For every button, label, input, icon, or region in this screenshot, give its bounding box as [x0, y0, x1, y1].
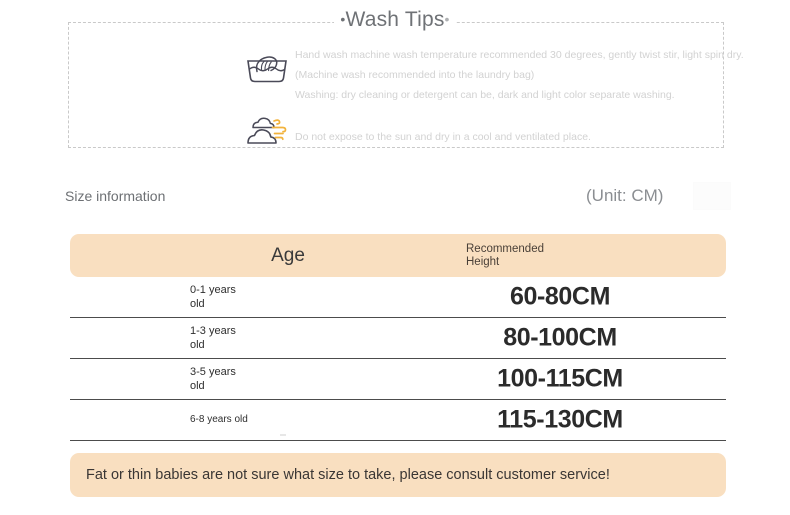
cell-age-line2: old [190, 338, 380, 352]
bullet-right-icon: • [445, 11, 450, 27]
cell-age-line2: old [190, 297, 380, 311]
table-row: 1-3 years old 80-100CM [70, 318, 726, 359]
cell-height: 100-115CM [400, 365, 720, 394]
cell-height: 80-100CM [400, 324, 720, 353]
cell-age-line1: 6-8 years old [190, 413, 380, 427]
unit-label: (Unit: CM) [586, 186, 663, 206]
wash-tips-title: •Wash Tips• [0, 8, 790, 32]
size-information-heading: Size information [65, 188, 165, 204]
background-artifact [693, 182, 731, 210]
cell-age-line1: 3-5 years [190, 365, 380, 379]
wash-line-3: Washing: dry cleaning or detergent can b… [295, 85, 744, 105]
size-table: Age Recommended Height 0-1 years old 60-… [70, 234, 726, 441]
cell-age-line1: 1-3 years [190, 324, 380, 338]
wash-tips-content: Hand wash machine wash temperature recom… [239, 43, 790, 151]
size-table-header: Age Recommended Height [70, 234, 726, 277]
column-header-age: Age [188, 245, 388, 267]
cell-age: 6-8 years old [190, 413, 380, 427]
column-header-height-line2: Height [466, 256, 544, 269]
cell-height: 60-80CM [400, 283, 720, 312]
wash-instructions-block: Hand wash machine wash temperature recom… [239, 43, 790, 105]
cell-age-line1: 0-1 years [190, 283, 380, 297]
table-row: 6-8 years old 115-130CM [70, 400, 726, 441]
dry-line: Do not expose to the sun and dry in a co… [295, 113, 591, 147]
wash-line-1: Hand wash machine wash temperature recom… [295, 45, 744, 65]
wash-line-2: (Machine wash recommended into the laund… [295, 65, 744, 85]
customer-service-notice-text: Fat or thin babies are not sure what siz… [86, 467, 610, 483]
wash-instruction-lines: Hand wash machine wash temperature recom… [295, 43, 744, 105]
wash-tips-title-text: Wash Tips [345, 8, 444, 31]
cell-age: 3-5 years old [190, 365, 380, 393]
wash-tips-panel: Hand wash machine wash temperature recom… [68, 22, 724, 148]
cell-height: 115-130CM [400, 406, 720, 435]
hand-wash-basin-icon [239, 43, 295, 85]
column-header-height-line1: Recommended [466, 243, 544, 256]
row-artifact [280, 434, 286, 436]
table-row: 3-5 years old 100-115CM [70, 359, 726, 400]
table-row: 0-1 years old 60-80CM [70, 277, 726, 318]
cloud-wind-dry-icon [239, 111, 295, 151]
cell-age: 0-1 years old [190, 283, 380, 311]
cell-age-line2: old [190, 379, 380, 393]
drying-instruction-lines: Do not expose to the sun and dry in a co… [295, 111, 591, 147]
cell-age: 1-3 years old [190, 324, 380, 352]
column-header-recommended-height: Recommended Height [466, 243, 544, 269]
drying-instructions-block: Do not expose to the sun and dry in a co… [239, 111, 790, 151]
customer-service-notice: Fat or thin babies are not sure what siz… [70, 453, 726, 497]
